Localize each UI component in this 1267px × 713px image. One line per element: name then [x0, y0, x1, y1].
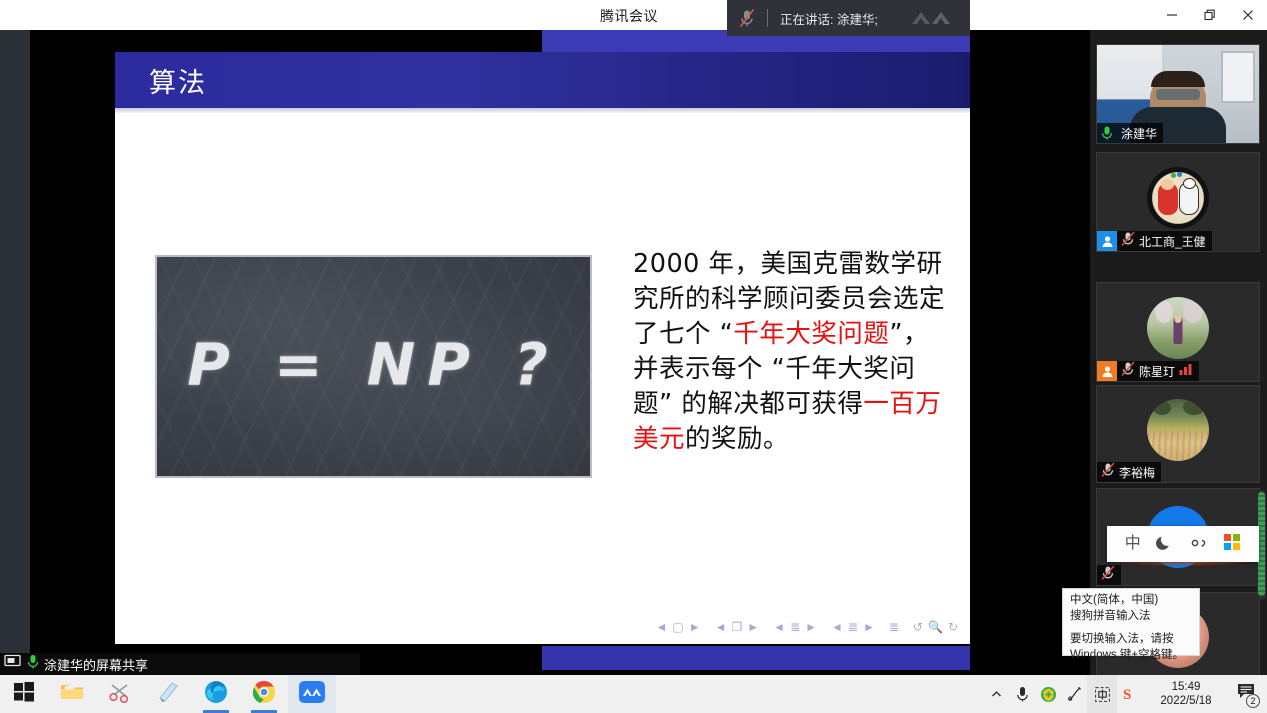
nav-group-1[interactable]: ◄ ▢ ► [656, 620, 701, 634]
body-highlight-1: 千年大奖问题 [733, 319, 889, 349]
participant-avatar-badge [1097, 361, 1117, 381]
screen-root: 腾讯会议 [0, 0, 1267, 713]
notification-center-button[interactable]: 2 [1229, 675, 1263, 713]
next-slide-icon[interactable]: ► [689, 620, 701, 634]
tencent-meeting-logo-icon [299, 680, 325, 709]
prev-indent-icon[interactable]: ◄ [831, 620, 843, 634]
punctuation-icon[interactable] [1189, 534, 1209, 554]
next-indent-icon[interactable]: ► [863, 620, 875, 634]
cartoon-mascots-photo [1147, 167, 1209, 229]
mic-muted-icon [1097, 565, 1115, 586]
participant-tile-1[interactable]: 涂建华 [1096, 44, 1260, 144]
participant-nameplate-1: 涂建华 [1097, 123, 1163, 143]
close-button[interactable] [1229, 0, 1267, 30]
ime-tooltip-line2: 搜狗拼音输入法 [1070, 609, 1192, 625]
chrome-icon [252, 680, 276, 709]
participant-nameplate-3: 陈星玎 [1097, 361, 1199, 381]
speaking-indicator: 正在讲话: 涂建华; [727, 0, 970, 36]
next-group-icon[interactable]: ► [747, 620, 759, 634]
redo-icon[interactable]: ↻ [948, 620, 958, 634]
participant-tile-3[interactable]: 陈星玎 [1096, 282, 1260, 382]
minimize-button[interactable] [1153, 0, 1191, 30]
participant-nameplate-4: 李裕梅 [1097, 462, 1161, 482]
sogou-s-icon[interactable]: S [1117, 675, 1143, 713]
scissors-icon [108, 681, 132, 708]
participant-avatar-badge [1097, 231, 1117, 251]
edge-icon [204, 680, 228, 709]
slide-body-text: 2000 年，美国克雷数学研究所的科学顾问委员会选定了七个 “千年大奖问题”，并… [633, 247, 953, 457]
mic-on-icon [27, 654, 39, 675]
window-titlebar: 腾讯会议 [0, 0, 1267, 30]
undo-icon[interactable]: ↺ [913, 620, 923, 634]
powerpoint-ribbon-band-bottom [542, 646, 970, 670]
file-explorer-button[interactable] [48, 675, 96, 713]
chalkboard-image: P = NP ? [155, 255, 592, 478]
participant-tile-2[interactable]: 北工商_王健 [1096, 152, 1260, 252]
mic-muted-icon [1097, 462, 1115, 483]
prev-align-icon[interactable]: ◄ [773, 620, 785, 634]
ime-tooltip-line4: 要切换输入法，请按 [1070, 632, 1192, 648]
participant-tile-4[interactable]: 李裕梅 [1096, 385, 1260, 483]
nav-group-2[interactable]: ◄ ❐ ► [715, 620, 760, 634]
scrollbar-thumb[interactable] [1258, 492, 1265, 596]
taskbar-apps [0, 675, 336, 713]
screen-share-icon [4, 654, 22, 674]
duplicate-slide-icon[interactable]: ❐ [732, 620, 743, 634]
nav-group-3[interactable]: ◄ ≣ ► [773, 620, 817, 634]
next-align-icon[interactable]: ► [805, 620, 817, 634]
ime-mode-chinese[interactable]: 中 [1125, 536, 1141, 552]
body-segment-3: 的奖励。 [685, 424, 789, 454]
slide-frame-icon[interactable]: ▢ [672, 620, 683, 634]
restore-button[interactable] [1191, 0, 1229, 30]
participant-nameplate-5 [1097, 565, 1121, 585]
list-icon[interactable]: ≣ [889, 620, 899, 634]
mic-muted-icon [1121, 231, 1135, 252]
app-title: 腾讯会议 [600, 6, 658, 26]
speaking-label: 正在讲话: 涂建华; [768, 9, 878, 28]
nav-group-5[interactable]: ↺ 🔍 ↻ [913, 620, 958, 634]
slide-title-underline [115, 108, 970, 113]
zoom-icon[interactable]: 🔍 [928, 620, 943, 634]
participant-name-1: 涂建华 [1121, 125, 1157, 142]
prev-slide-icon[interactable]: ◄ [656, 620, 668, 634]
sogou-squares-icon[interactable] [1224, 534, 1241, 555]
participant-name-3: 陈星玎 [1139, 363, 1175, 380]
taskbar-clock[interactable]: 15:49 2022/5/18 [1143, 675, 1229, 713]
slide-navigation-controls[interactable]: ◄ ▢ ► ◄ ❐ ► ◄ ≣ ► ◄ ≣ ► [115, 616, 970, 638]
sogou-ime-toolbar[interactable]: 中 [1107, 526, 1259, 562]
show-hidden-icons-button[interactable] [983, 675, 1009, 713]
notification-count: 2 [1246, 694, 1260, 708]
mic-on-icon [1097, 123, 1117, 143]
windows-taskbar: S 15:49 2022/5/18 2 [0, 675, 1267, 713]
window-controls [1153, 0, 1267, 30]
system-tray: S 15:49 2022/5/18 2 [983, 675, 1267, 713]
microphone-icon[interactable] [1009, 675, 1035, 713]
notebook-icon [156, 681, 180, 708]
mic-muted-icon [727, 8, 767, 28]
start-button[interactable] [0, 675, 48, 713]
sticky-notes-button[interactable] [144, 675, 192, 713]
pen-icon[interactable] [1061, 675, 1087, 713]
google-chrome-button[interactable] [240, 675, 288, 713]
slide-title: 算法 [115, 61, 207, 100]
signal-bars-icon [1179, 362, 1193, 380]
ime-box-icon[interactable] [1087, 675, 1117, 713]
folder-icon [60, 682, 84, 707]
snipping-tool-button[interactable] [96, 675, 144, 713]
svg-text:S: S [1123, 687, 1131, 703]
participant-panel: 涂建华 [1090, 30, 1267, 675]
screen-share-notice: 涂建华的屏幕共享 [0, 653, 360, 675]
align-icon[interactable]: ≣ [790, 620, 800, 634]
ime-tooltip-line5: Windows 键+空格键。 [1070, 648, 1192, 664]
participant-name-2: 北工商_王健 [1139, 233, 1206, 250]
screen-share-text: 涂建华的屏幕共享 [44, 655, 148, 674]
clock-time: 15:49 [1172, 680, 1201, 694]
flower-field-photo [1147, 399, 1209, 461]
crescent-moon-icon[interactable] [1156, 534, 1173, 555]
shared-screen-area: 算法 P = NP ? 2000 年，美国克雷数学研究所的科学顾问委员会选定了七… [0, 30, 1090, 675]
nav-group-4[interactable]: ◄ ≣ ► [831, 620, 875, 634]
indent-icon[interactable]: ≣ [848, 620, 858, 634]
tencent-meeting-button[interactable] [288, 675, 336, 713]
chalkboard-text: P = NP ? [157, 330, 590, 398]
tencent-meeting-logo-icon [910, 8, 960, 33]
microsoft-edge-button[interactable] [192, 675, 240, 713]
ime-tooltip-line1: 中文(简体，中国) [1070, 593, 1192, 609]
windows-logo-icon [14, 682, 34, 707]
green-shield-icon[interactable] [1035, 675, 1061, 713]
person-in-park-photo [1147, 297, 1209, 359]
participant-nameplate-2: 北工商_王健 [1097, 231, 1212, 251]
slide-title-bar: 算法 [115, 52, 970, 108]
mic-muted-icon [1121, 361, 1135, 382]
prev-group-icon[interactable]: ◄ [715, 620, 727, 634]
desktop-left-strip [0, 30, 30, 675]
presentation-slide: 算法 P = NP ? 2000 年，美国克雷数学研究所的科学顾问委员会选定了七… [115, 52, 970, 644]
ime-tooltip: 中文(简体，中国) 搜狗拼音输入法 要切换输入法，请按 Windows 键+空格… [1062, 588, 1200, 656]
clock-date: 2022/5/18 [1160, 694, 1211, 708]
ime-tooltip-spacer [1070, 624, 1192, 632]
participant-name-4: 李裕梅 [1119, 464, 1155, 481]
